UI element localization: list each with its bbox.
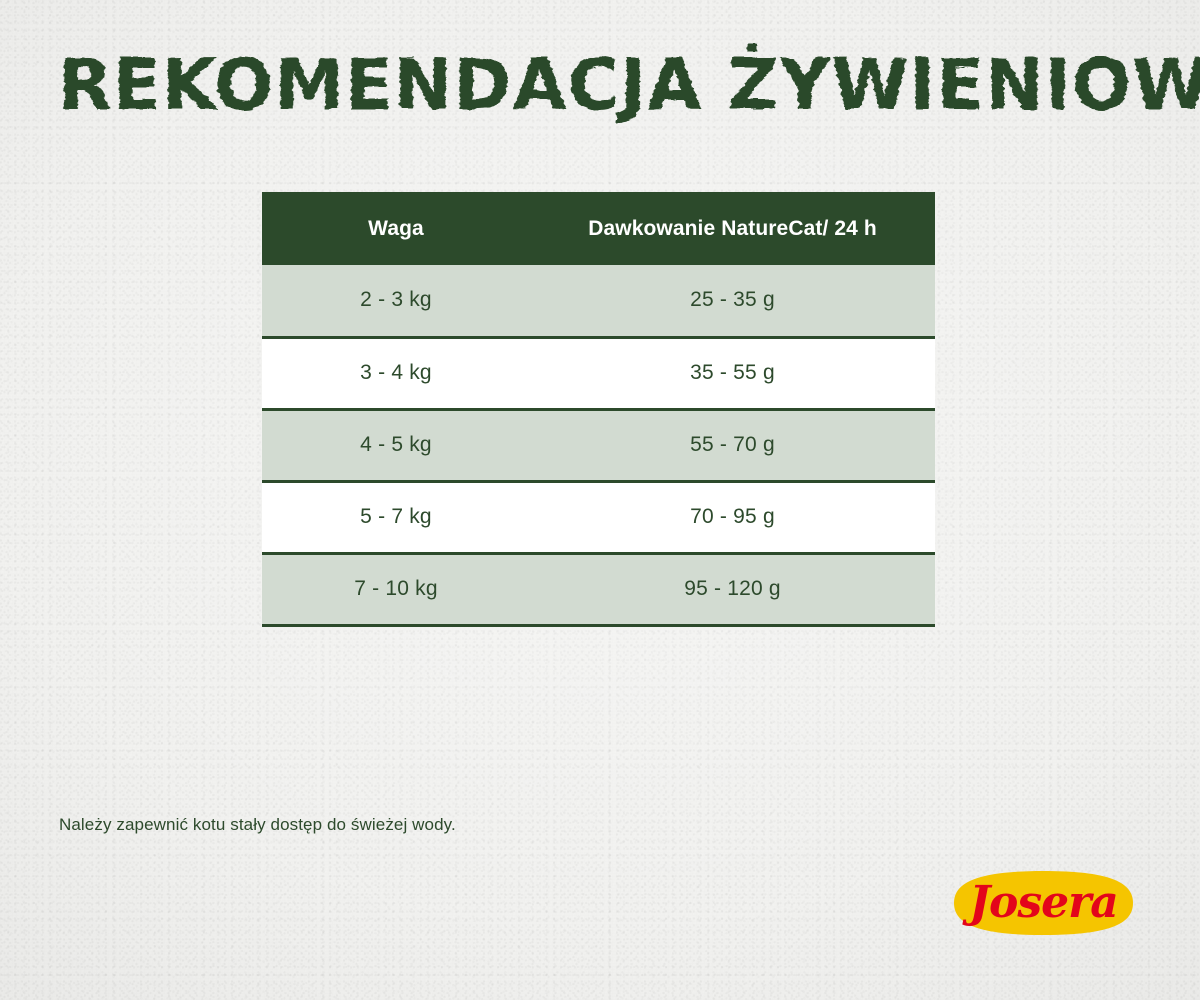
josera-logo: Josera xyxy=(945,866,1142,940)
column-header-weight: Waga xyxy=(262,192,530,265)
water-access-note: Należy zapewnić kotu stały dostęp do świ… xyxy=(59,815,456,835)
table-body: 2 - 3 kg 25 - 35 g 3 - 4 kg 35 - 55 g 4 … xyxy=(262,265,935,625)
cell-dose: 25 - 35 g xyxy=(530,265,935,337)
page-title-text: REKOMENDACJA ŻYWIENIOWA xyxy=(58,44,1200,126)
table-row: 5 - 7 kg 70 - 95 g xyxy=(262,481,935,553)
page-title: REKOMENDACJA ŻYWIENIOWA xyxy=(58,47,958,125)
feeding-recommendation-table: Waga Dawkowanie NatureCat/ 24 h 2 - 3 kg… xyxy=(262,192,935,627)
cell-weight: 2 - 3 kg xyxy=(262,265,530,337)
cell-weight: 5 - 7 kg xyxy=(262,481,530,553)
table-row: 3 - 4 kg 35 - 55 g xyxy=(262,337,935,409)
cell-weight: 3 - 4 kg xyxy=(262,337,530,409)
table-row: 4 - 5 kg 55 - 70 g xyxy=(262,409,935,481)
column-header-dose: Dawkowanie NatureCat/ 24 h xyxy=(530,192,935,265)
cell-dose: 70 - 95 g xyxy=(530,481,935,553)
table-row: 2 - 3 kg 25 - 35 g xyxy=(262,265,935,337)
cell-dose: 35 - 55 g xyxy=(530,337,935,409)
cell-dose: 55 - 70 g xyxy=(530,409,935,481)
table-header-row: Waga Dawkowanie NatureCat/ 24 h xyxy=(262,192,935,265)
logo-wordmark: Josera xyxy=(962,877,1118,928)
cell-dose: 95 - 120 g xyxy=(530,553,935,625)
table-header: Waga Dawkowanie NatureCat/ 24 h xyxy=(262,192,935,265)
cell-weight: 7 - 10 kg xyxy=(262,553,530,625)
cell-weight: 4 - 5 kg xyxy=(262,409,530,481)
table-row: 7 - 10 kg 95 - 120 g xyxy=(262,553,935,625)
